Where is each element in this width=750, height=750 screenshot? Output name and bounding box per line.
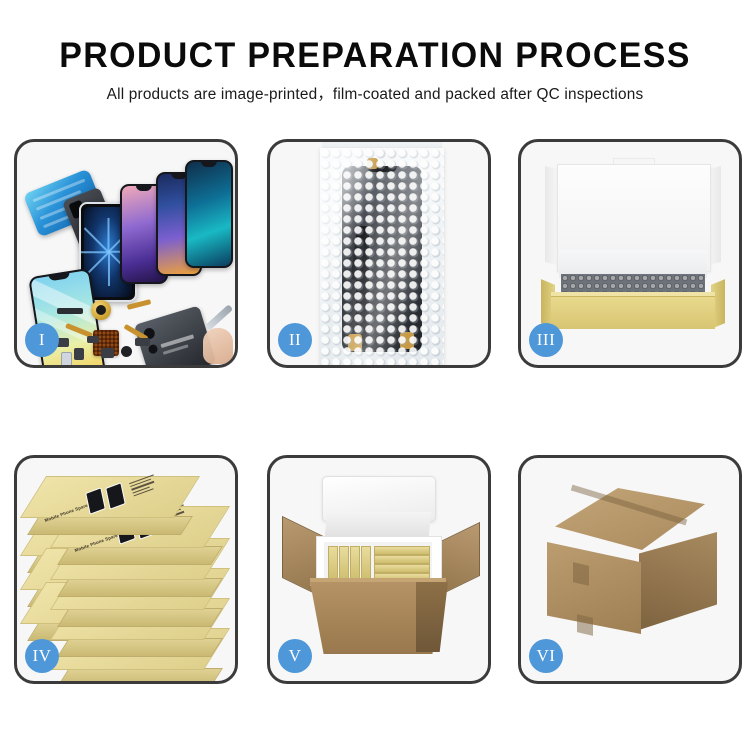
phone-icon-c [185,160,233,268]
small-part-icon-4 [121,346,132,357]
box-front-wall [551,296,715,329]
foam-lid-edge [325,512,432,536]
bag-sheen [320,148,444,366]
packed-box-4 [361,546,371,582]
bubble-bag-icon [320,148,444,366]
page-title: PRODUCT PREPARATION PROCESS [11,36,739,76]
step-badge-5: V [278,639,312,673]
step-badge-1: I [25,323,59,357]
packed-box-2 [339,546,349,582]
step-panel-1: I [14,139,238,368]
carton-right-face [639,532,717,630]
carton-front-face [547,542,641,634]
step-badge-4: IV [25,639,59,673]
speaker-module-icon [91,300,111,320]
small-part-icon-5 [135,338,150,346]
packed-box-3 [350,546,360,582]
step-panel-5: V [267,455,491,684]
step-badge-3: III [529,323,563,357]
product-preparation-infographic: PRODUCT PREPARATION PROCESS All products… [0,0,750,750]
small-part-icon-6 [87,336,99,343]
step-panel-6: VI [518,455,742,684]
sim-tray-icon [61,352,72,368]
carton-tape-patch-1 [573,562,589,586]
step-badge-2: II [278,323,312,357]
step-panel-3: III [518,139,742,368]
small-part-icon-2 [74,348,84,360]
header: PRODUCT PREPARATION PROCESS All products… [0,36,750,105]
packed-box-7 [374,564,430,573]
carton-side-wall [416,582,448,652]
step-panel-4: Mobile Phone Spare Parts Mobile Phone Sp… [14,455,238,684]
earpiece-bar-icon [57,308,83,314]
packed-box-5 [374,546,430,555]
step-panel-2: II [267,139,491,368]
packed-box-6 [374,555,430,564]
packed-box-1 [328,546,338,582]
carton-tape-patch-2 [577,614,593,636]
step-badge-6: VI [529,639,563,673]
tweezers-icon [205,304,233,331]
hand-icon [203,328,233,364]
small-part-icon-3 [101,348,114,358]
process-step-grid: I II [14,139,738,684]
page-subtitle: All products are image-printed，film-coat… [4,85,747,105]
